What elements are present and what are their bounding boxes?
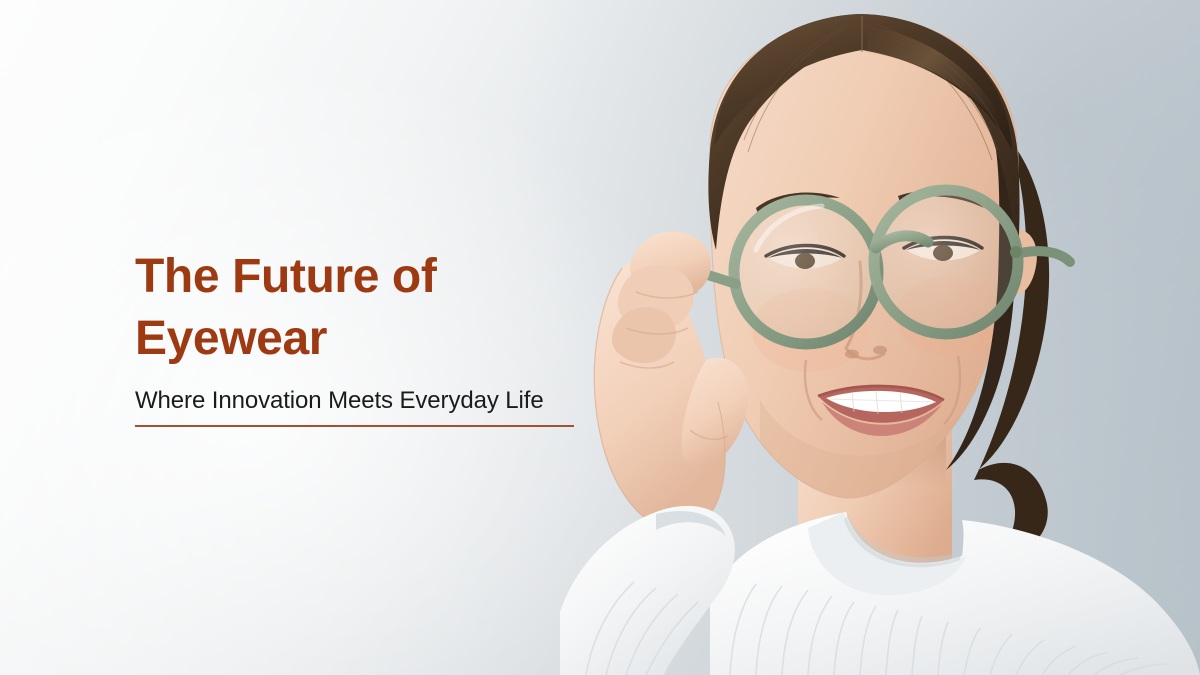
page-title: The Future of Eyewear	[135, 246, 655, 370]
sweater-body	[710, 512, 1200, 675]
page-subtitle: Where Innovation Meets Everyday Life	[135, 386, 574, 416]
sweater-sleeve	[560, 506, 735, 675]
hinge-right	[1010, 246, 1022, 258]
subtitle-rule: Where Innovation Meets Everyday Life	[135, 386, 574, 427]
hero-copy: The Future of Eyewear Where Innovation M…	[135, 246, 655, 427]
eyewear-hero-banner: The Future of Eyewear Where Innovation M…	[0, 0, 1200, 675]
nostril-left	[845, 350, 859, 359]
nostril-right	[873, 346, 887, 355]
hero-photo	[560, 0, 1200, 675]
